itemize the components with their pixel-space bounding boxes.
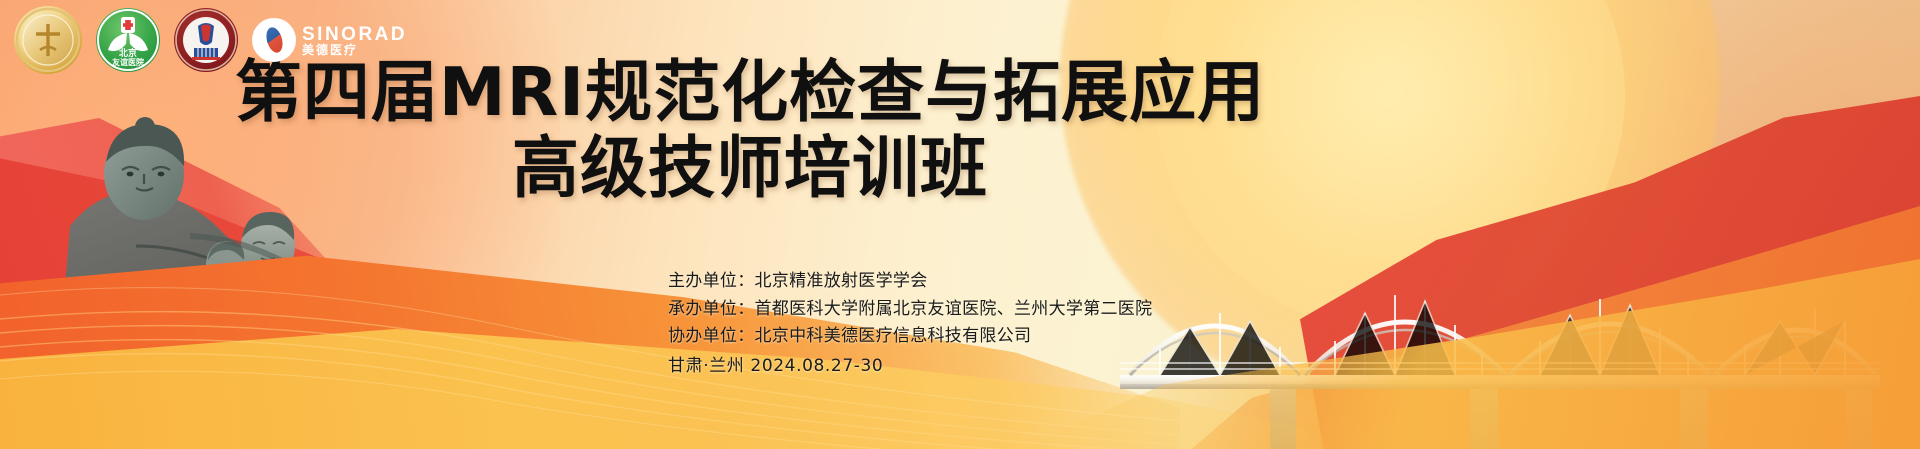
co-organizer-line: 协办单位：北京中科美德医疗信息科技有限公司 — [668, 323, 1152, 351]
logo-sinorad: SINORAD 美德医疗 — [252, 18, 407, 62]
logo-row: 北京 友谊医院 — [14, 6, 407, 74]
conference-banner: 北京 友谊医院 — [0, 0, 1920, 449]
logo-lanzhou-university-second-hospital — [174, 8, 238, 72]
sinorad-subtitle: 美德医疗 — [302, 44, 407, 56]
location-date-line: 甘肃·兰州 2024.08.27-30 — [668, 353, 1152, 381]
gold-seal-icon — [14, 6, 82, 74]
university-hospital-emblem-icon — [174, 8, 238, 72]
sinorad-mark-icon — [252, 18, 296, 62]
sinorad-wordmark: SINORAD — [302, 25, 407, 44]
svg-text:友谊医院: 友谊医院 — [111, 57, 144, 67]
organizer-line: 主办单位：北京精准放射医学学会 — [668, 268, 1152, 296]
logo-beijing-youyi-hospital: 北京 友谊医院 — [96, 8, 160, 72]
logo-gold-seal — [14, 6, 82, 74]
banner-meta-block: 主办单位：北京精准放射医学学会 承办单位：首都医科大学附属北京友谊医院、兰州大学… — [668, 268, 1152, 380]
host-line: 承办单位：首都医科大学附属北京友谊医院、兰州大学第二医院 — [668, 296, 1152, 324]
hospital-dove-cross-icon: 北京 友谊医院 — [96, 8, 160, 72]
